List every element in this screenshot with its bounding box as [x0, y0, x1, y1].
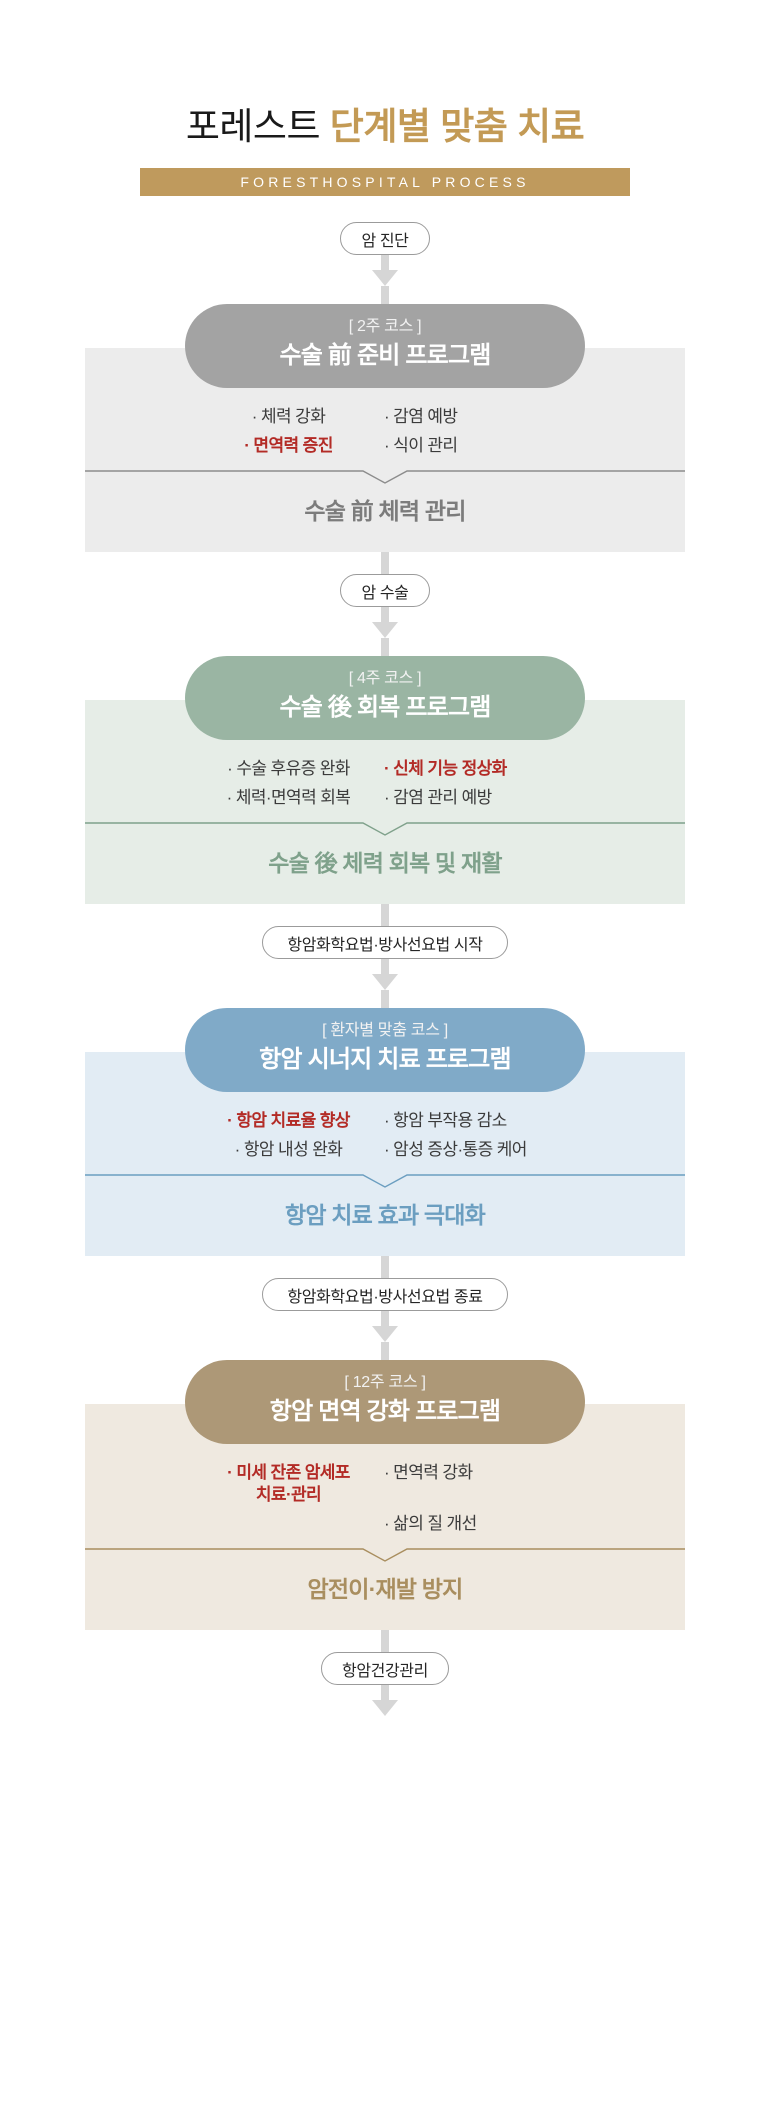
flow-container: 암 진단 [ 2주 코스 ] 수술 前 준비 프로그램 · 체력 강화 · 감염…: [0, 196, 770, 1716]
stage-footer-3: 항암 치료 효과 극대화: [285, 1196, 485, 1256]
flow-pill-aftercare[interactable]: 항암건강관리: [321, 1652, 449, 1685]
connector-5: [379, 959, 391, 1008]
bullet-item: · 면역력 증진: [201, 435, 376, 457]
stage-footer-1: 수술 前 체력 관리: [304, 492, 465, 552]
down-arrow-icon: [372, 974, 398, 990]
bullet-item: · 감염 관리 예방: [384, 787, 569, 809]
banner-text: FORESTHOSPITAL PROCESS: [240, 174, 529, 190]
flow-pill-chemo-start[interactable]: 항암화학요법·방사선요법 시작: [262, 926, 507, 959]
bullet-spacer: [201, 1513, 376, 1535]
connector-1: [379, 255, 391, 304]
divider-notch-icon: [85, 1173, 685, 1189]
stage-header-1: [ 2주 코스 ] 수술 前 준비 프로그램: [185, 304, 585, 388]
down-arrow-icon: [372, 622, 398, 638]
bullet-line1: · 미세 잔존 암세포: [227, 1463, 350, 1482]
stage-program-2: 수술 後 회복 프로그램: [279, 692, 490, 724]
stage-program-1: 수술 前 준비 프로그램: [279, 340, 490, 372]
stage-footer-4: 암전이·재발 방지: [308, 1570, 463, 1630]
stage-footer-2: 수술 後 체력 회복 및 재활: [268, 844, 501, 904]
connector-4: [379, 904, 391, 926]
stage-course-2: [ 4주 코스 ]: [349, 668, 422, 690]
bullet-item: · 면역력 강화: [384, 1462, 569, 1506]
bullet-item: · 삶의 질 개선: [384, 1513, 569, 1535]
bullet-item: · 체력 강화: [201, 406, 376, 428]
bullet-item: · 식이 관리: [384, 435, 569, 457]
bullet-item: · 항암 내성 완화: [201, 1139, 376, 1161]
page-title: 포레스트 단계별 맞춤 치료: [186, 104, 584, 150]
flow-pill-diagnosis[interactable]: 암 진단: [340, 222, 429, 255]
stage-course-4: [ 12주 코스 ]: [344, 1372, 425, 1394]
bullet-item: · 미세 잔존 암세포 치료·관리: [201, 1462, 376, 1506]
bullet-item: · 수술 후유증 완화: [201, 758, 376, 780]
divider-notch-icon: [85, 1547, 685, 1563]
down-arrow-icon: [372, 270, 398, 286]
connector-7: [379, 1311, 391, 1360]
stage-course-1: [ 2주 코스 ]: [349, 316, 422, 338]
connector-2: [379, 552, 391, 574]
bullet-item: · 감염 예방: [384, 406, 569, 428]
banner: FORESTHOSPITAL PROCESS: [140, 168, 630, 196]
connector-3: [379, 607, 391, 656]
stage-bullets-3: · 항암 치료율 향상 · 항암 부작용 감소 · 항암 내성 완화 · 암성 …: [201, 1110, 569, 1161]
stage-bullets-2: · 수술 후유증 완화 · 신체 기능 정상화 · 체력·면역력 회복 · 감염…: [201, 758, 569, 809]
stage-header-2: [ 4주 코스 ] 수술 後 회복 프로그램: [185, 656, 585, 740]
stage-program-4: 항암 면역 강화 프로그램: [270, 1396, 500, 1428]
divider-notch-icon: [85, 469, 685, 485]
divider-notch-icon: [85, 821, 685, 837]
flow-tail: 항암건강관리: [321, 1630, 449, 1716]
bullet-item: · 신체 기능 정상화: [384, 758, 569, 780]
bullet-item: · 항암 부작용 감소: [384, 1110, 569, 1132]
stage-card-4: [ 12주 코스 ] 항암 면역 강화 프로그램 · 미세 잔존 암세포 치료·…: [0, 1360, 770, 1630]
down-arrow-icon: [372, 1700, 398, 1716]
stage-header-3: [ 환자별 맞춤 코스 ] 항암 시너지 치료 프로그램: [185, 1008, 585, 1092]
stage-card-2: [ 4주 코스 ] 수술 後 회복 프로그램 · 수술 후유증 완화 · 신체 …: [0, 656, 770, 904]
connector-9: [379, 1685, 391, 1716]
bullet-line2: 치료·관리: [201, 1484, 376, 1506]
bullet-item: · 체력·면역력 회복: [201, 787, 376, 809]
down-arrow-icon: [372, 1326, 398, 1342]
bullet-item: · 암성 증상·통증 케어: [384, 1139, 569, 1161]
flow-pill-surgery[interactable]: 암 수술: [340, 574, 429, 607]
stage-bullets-4: · 미세 잔존 암세포 치료·관리 · 면역력 강화 · 삶의 질 개선: [201, 1462, 569, 1535]
process-infographic: 포레스트 단계별 맞춤 치료 FORESTHOSPITAL PROCESS 암 …: [0, 0, 770, 2118]
page-title-plain: 포레스트: [186, 106, 330, 147]
stage-course-3: [ 환자별 맞춤 코스 ]: [322, 1020, 448, 1042]
connector-8: [379, 1630, 391, 1652]
bullet-item: · 항암 치료율 향상: [201, 1110, 376, 1132]
stage-program-3: 항암 시너지 치료 프로그램: [259, 1044, 511, 1076]
stage-header-4: [ 12주 코스 ] 항암 면역 강화 프로그램: [185, 1360, 585, 1444]
stage-card-1: [ 2주 코스 ] 수술 前 준비 프로그램 · 체력 강화 · 감염 예방 ·…: [0, 304, 770, 552]
page-title-accent: 단계별 맞춤 치료: [330, 106, 584, 147]
stage-bullets-1: · 체력 강화 · 감염 예방 · 면역력 증진 · 식이 관리: [201, 406, 569, 457]
stage-card-3: [ 환자별 맞춤 코스 ] 항암 시너지 치료 프로그램 · 항암 치료율 향상…: [0, 1008, 770, 1256]
flow-pill-chemo-end[interactable]: 항암화학요법·방사선요법 종료: [262, 1278, 507, 1311]
connector-6: [379, 1256, 391, 1278]
